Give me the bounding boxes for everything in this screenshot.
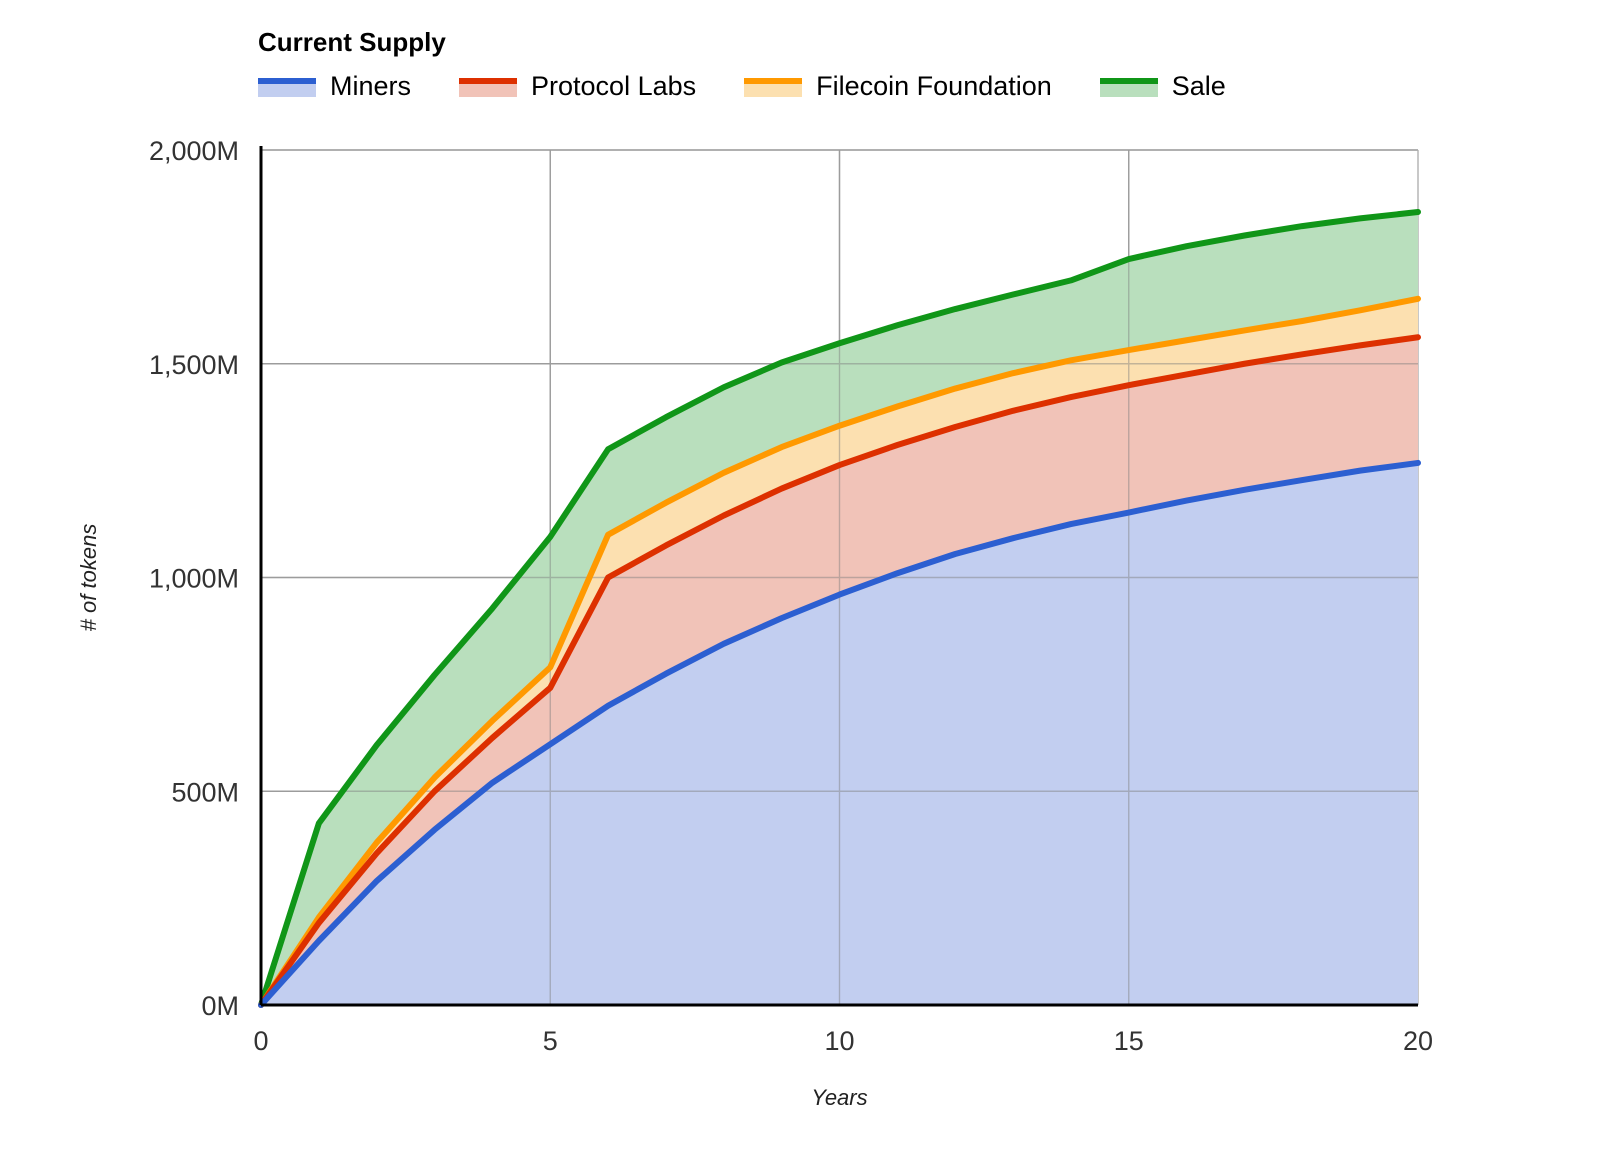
x-tick-label: 20 [1403,1026,1433,1056]
supply-chart: Current Supply Miners Protocol Labs [0,0,1600,1159]
x-tick-label: 15 [1114,1026,1144,1056]
plot-svg: 0M500M1,000M1,500M2,000M05101520Years# o… [0,0,1600,1159]
x-tick-label: 0 [253,1026,268,1056]
plot-area: 0M500M1,000M1,500M2,000M05101520Years# o… [0,0,1600,1159]
y-tick-label: 2,000M [149,136,239,166]
x-tick-label: 10 [824,1026,854,1056]
y-tick-label: 1,500M [149,350,239,380]
y-tick-label: 1,000M [149,564,239,594]
y-tick-label: 500M [171,777,239,807]
y-tick-label: 0M [201,991,239,1021]
x-axis-title: Years [811,1085,867,1110]
x-tick-label: 5 [543,1026,558,1056]
y-axis-title: # of tokens [76,524,101,632]
